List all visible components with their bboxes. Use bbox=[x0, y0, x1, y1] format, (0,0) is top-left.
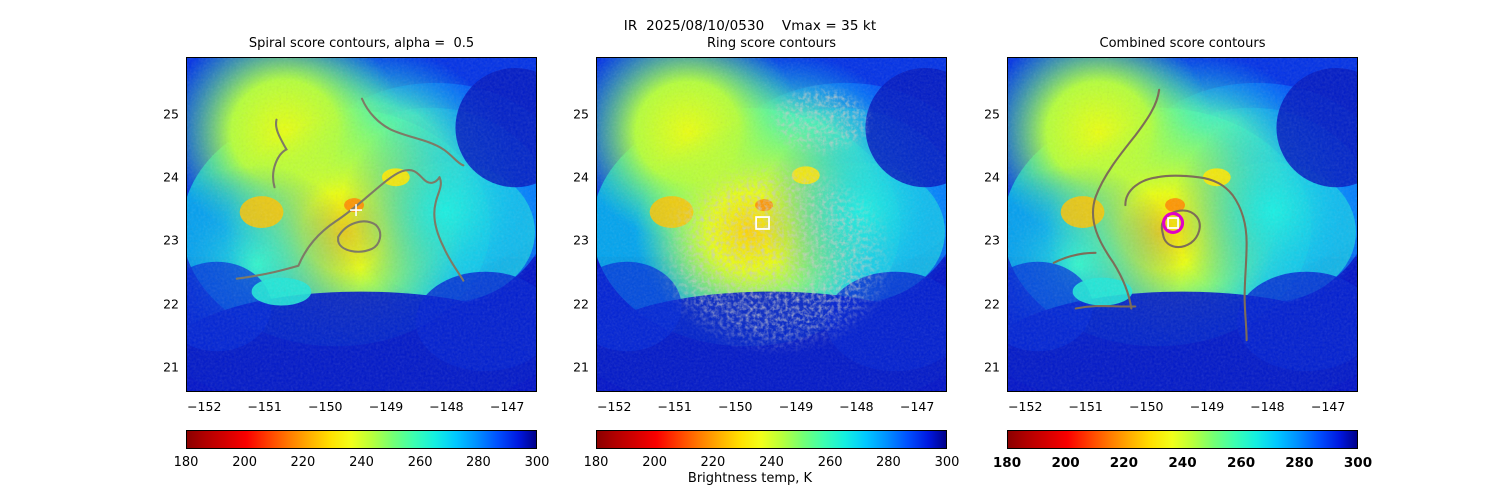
ytick-label: 24 bbox=[573, 169, 589, 184]
ytick-label: 22 bbox=[984, 296, 1000, 311]
ytick-label: 25 bbox=[984, 106, 1000, 121]
colorbar-gradient bbox=[596, 430, 947, 449]
colorbar-tick-label: 180 bbox=[584, 455, 609, 470]
ytick-label: 22 bbox=[573, 296, 589, 311]
storm-center-plus-marker bbox=[187, 58, 536, 391]
panel-combined: Combined score contours bbox=[1007, 57, 1358, 392]
colorbar-tick-label: 200 bbox=[1052, 455, 1080, 471]
colorbar-tick-label: 260 bbox=[408, 455, 433, 470]
colorbar-tick-label: 280 bbox=[466, 455, 491, 470]
ytick-label: 21 bbox=[163, 359, 179, 374]
xtick-label: −149 bbox=[369, 399, 403, 414]
ytick-label: 24 bbox=[984, 169, 1000, 184]
xtick-label: −147 bbox=[900, 399, 934, 414]
colorbar-tick-label: 240 bbox=[759, 455, 784, 470]
xtick-label: −152 bbox=[1008, 399, 1042, 414]
xtick-label: −151 bbox=[657, 399, 691, 414]
colorbar-tick-label: 220 bbox=[290, 455, 315, 470]
colorbar-tick-label: 180 bbox=[993, 455, 1021, 471]
xtick-label: −151 bbox=[247, 399, 281, 414]
xtick-label: −152 bbox=[597, 399, 631, 414]
axes-combined[interactable] bbox=[1007, 57, 1358, 392]
figure: IR 2025/08/10/0530 Vmax = 35 kt Spiral s… bbox=[0, 0, 1500, 500]
ytick-label: 23 bbox=[573, 233, 589, 248]
ytick-label: 22 bbox=[163, 296, 179, 311]
xtick-label: −149 bbox=[779, 399, 813, 414]
colorbar-tick-label: 200 bbox=[642, 455, 667, 470]
panel-spiral: Spiral score contours, alpha = 0.5 bbox=[186, 57, 537, 392]
storm-center-ring-marker bbox=[1008, 58, 1357, 391]
axes-spiral[interactable] bbox=[186, 57, 537, 392]
panel-title-ring: Ring score contours bbox=[556, 36, 987, 51]
xtick-label: −150 bbox=[718, 399, 752, 414]
ytick-label: 21 bbox=[984, 359, 1000, 374]
colorbar-tick-label: 220 bbox=[700, 455, 725, 470]
colorbar-combined: 180 200 220 240 260 280 300 bbox=[1007, 430, 1358, 449]
colorbar-tick-label: 260 bbox=[1227, 455, 1255, 471]
storm-center-square-marker bbox=[597, 58, 946, 391]
colorbar-tick-label: 300 bbox=[525, 455, 550, 470]
colorbar-tick-label: 200 bbox=[232, 455, 257, 470]
colorbar-gradient bbox=[186, 430, 537, 449]
colorbar-ring: 180 200 220 240 260 280 300 bbox=[596, 430, 947, 449]
axes-ring[interactable] bbox=[596, 57, 947, 392]
colorbar-tick-label: 260 bbox=[818, 455, 843, 470]
ytick-label: 21 bbox=[573, 359, 589, 374]
panel-title-spiral: Spiral score contours, alpha = 0.5 bbox=[146, 36, 577, 51]
xtick-label: −147 bbox=[1311, 399, 1345, 414]
figure-suptitle: IR 2025/08/10/0530 Vmax = 35 kt bbox=[0, 18, 1500, 34]
ytick-label: 23 bbox=[984, 233, 1000, 248]
xtick-label: −148 bbox=[1250, 399, 1284, 414]
ytick-label: 23 bbox=[163, 233, 179, 248]
colorbar-tick-label: 280 bbox=[876, 455, 901, 470]
xtick-label: −148 bbox=[429, 399, 463, 414]
colorbar-axis-label: Brightness temp, K bbox=[0, 471, 1500, 486]
xtick-label: −150 bbox=[1129, 399, 1163, 414]
xtick-label: −152 bbox=[187, 399, 221, 414]
xtick-label: −149 bbox=[1190, 399, 1224, 414]
panel-ring: Ring score contours bbox=[596, 57, 947, 392]
xtick-label: −150 bbox=[308, 399, 342, 414]
ytick-label: 25 bbox=[163, 106, 179, 121]
colorbar-tick-label: 240 bbox=[349, 455, 374, 470]
ytick-label: 25 bbox=[573, 106, 589, 121]
colorbar-tick-label: 240 bbox=[1168, 455, 1196, 471]
panel-title-combined: Combined score contours bbox=[967, 36, 1398, 51]
colorbar-spiral: 180 200 220 240 260 280 300 bbox=[186, 430, 537, 449]
xtick-label: −147 bbox=[490, 399, 524, 414]
colorbar-tick-label: 300 bbox=[935, 455, 960, 470]
xtick-label: −151 bbox=[1068, 399, 1102, 414]
ytick-label: 24 bbox=[163, 169, 179, 184]
colorbar-tick-label: 280 bbox=[1285, 455, 1313, 471]
colorbar-gradient bbox=[1007, 430, 1358, 449]
xtick-label: −148 bbox=[839, 399, 873, 414]
colorbar-tick-label: 180 bbox=[174, 455, 199, 470]
colorbar-tick-label: 220 bbox=[1110, 455, 1138, 471]
colorbar-tick-label: 300 bbox=[1344, 455, 1372, 471]
